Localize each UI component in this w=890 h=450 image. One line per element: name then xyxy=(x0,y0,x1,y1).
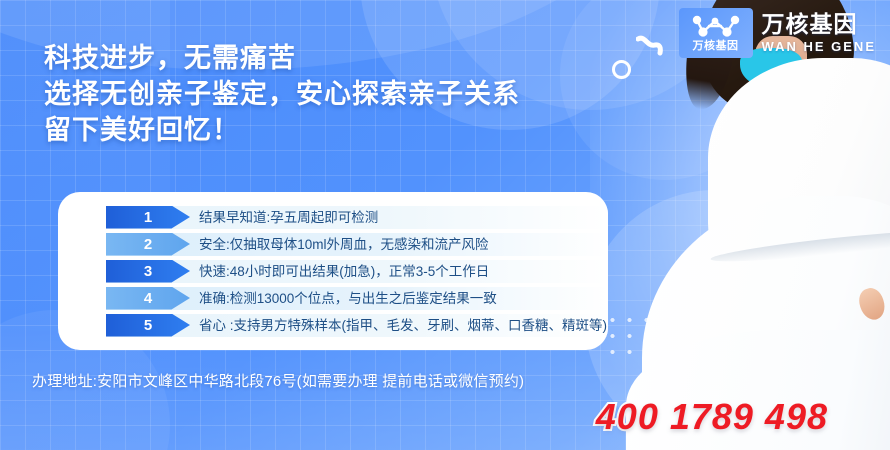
feature-row: 4 准确:检测13000个位点，与出生之后鉴定结果一致 xyxy=(58,287,608,310)
headline-block: 科技进步，无需痛苦 选择无创亲子鉴定，安心探索亲子关系 留下美好回忆！ xyxy=(44,40,520,148)
feature-text: 安全:仅抽取母体10ml外周血，无感染和流产风险 xyxy=(199,233,489,256)
feature-text: 省心 :支持男方特殊样本(指甲、毛发、牙刷、烟蒂、口香糖、精斑等) xyxy=(199,314,607,337)
pregnant-woman-photo xyxy=(590,0,890,450)
feature-row: 2 安全:仅抽取母体10ml外周血，无感染和流产风险 xyxy=(58,233,608,256)
feature-row: 1 结果早知道:孕五周起即可检测 xyxy=(58,206,608,229)
headline-line-1: 科技进步，无需痛苦 xyxy=(44,40,520,76)
logo-wordmark: 万核基因 WAN HE GENE xyxy=(762,13,876,53)
feature-text: 准确:检测13000个位点，与出生之后鉴定结果一致 xyxy=(199,287,497,310)
logo-name-cn: 万核基因 xyxy=(762,13,858,36)
brand-logo: 万核基因 万核基因 WAN HE GENE xyxy=(679,8,876,58)
promo-banner: 万核基因 万核基因 WAN HE GENE 科技进步，无需痛苦 选择无创亲子鉴定… xyxy=(0,0,890,450)
logo-mark-label: 万核基因 xyxy=(693,41,739,52)
feature-text: 快速:48小时即可出结果(加急)，正常3-5个工作日 xyxy=(199,260,489,283)
feature-text: 结果早知道:孕五周起即可检测 xyxy=(199,206,378,229)
logo-name-en: WAN HE GENE xyxy=(762,40,876,53)
molecule-icon-svg xyxy=(688,14,744,40)
headline-line-3: 留下美好回忆！ xyxy=(44,112,520,148)
hotline-phone-number[interactable]: 400 1789 498 xyxy=(596,396,828,438)
molecule-dna-icon: 万核基因 xyxy=(679,8,753,58)
office-address: 办理地址:安阳市文峰区中华路北段76号(如需要办理 提前电话或微信预约) xyxy=(32,370,524,391)
feature-list-card: 1 结果早知道:孕五周起即可检测 2 安全:仅抽取母体10ml外周血，无感染和流… xyxy=(58,192,608,350)
feature-row: 5 省心 :支持男方特殊样本(指甲、毛发、牙刷、烟蒂、口香糖、精斑等) xyxy=(58,314,608,337)
feature-row: 3 快速:48小时即可出结果(加急)，正常3-5个工作日 xyxy=(58,260,608,283)
headline-line-2: 选择无创亲子鉴定，安心探索亲子关系 xyxy=(44,76,520,112)
